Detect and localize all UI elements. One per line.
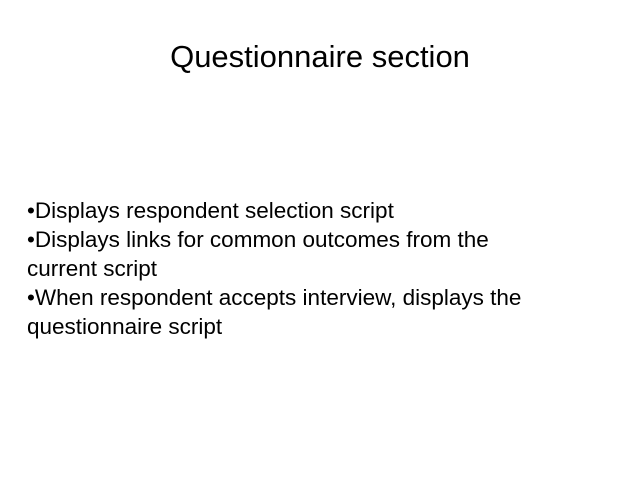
bullet-icon: •: [27, 198, 35, 223]
list-item-label: current script: [27, 256, 157, 281]
list-item-label: Displays respondent selection script: [35, 198, 394, 223]
list-item: •Displays respondent selection script: [27, 196, 619, 225]
list-item: •When respondent accepts interview, disp…: [27, 283, 619, 312]
bullet-icon: •: [27, 285, 35, 310]
list-item-label: Displays links for common outcomes from …: [35, 227, 489, 252]
slide-canvas: Questionnaire section •Displays responde…: [0, 0, 640, 480]
bullet-list: •Displays respondent selection script •D…: [27, 196, 619, 341]
list-item: •Displays links for common outcomes from…: [27, 225, 619, 254]
list-item-label: When respondent accepts interview, displ…: [35, 285, 522, 310]
list-item-label: questionnaire script: [27, 314, 222, 339]
page-title: Questionnaire section: [0, 38, 640, 76]
bullet-icon: •: [27, 227, 35, 252]
list-item-continuation: current script: [27, 254, 619, 283]
list-item-continuation: questionnaire script: [27, 312, 619, 341]
